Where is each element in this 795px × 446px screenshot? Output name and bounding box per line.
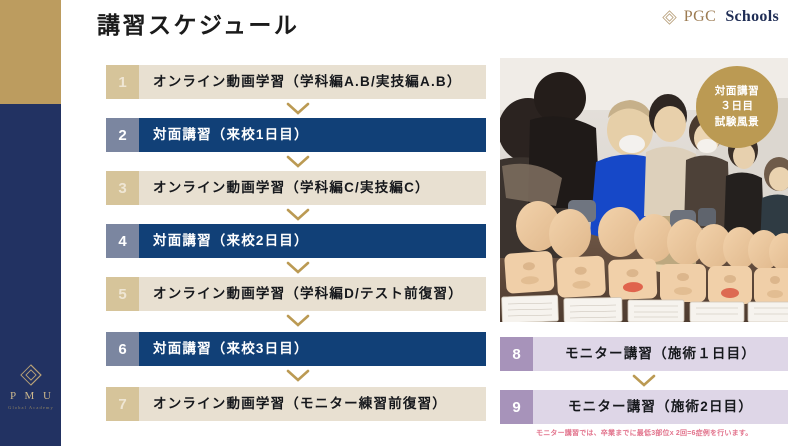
flow-step-3-number: 3 (106, 171, 139, 205)
flow-step-4-label: 対面講習（来校2日目） (139, 224, 486, 258)
flow-step-9-number: 9 (500, 390, 533, 424)
photo-caption-badge: 対面講習 ３日目 試験風景 (696, 66, 778, 148)
slide-canvas: P M U Global Academy 講習スケジュール PGC School… (0, 0, 795, 446)
chevron-down-icon (286, 369, 310, 382)
pmu-logo-name: P M U (7, 391, 54, 402)
flow-step-2[interactable]: 2 対面講習（来校1日目） (106, 118, 486, 152)
flow-step-3[interactable]: 3 オンライン動画学習（学科編C/実技編C） (106, 171, 486, 205)
diamond-outline-icon (661, 9, 678, 26)
photo-badge-line-2: ３日目 (720, 100, 753, 113)
chevron-down-icon (286, 208, 310, 221)
flow-step-5-number: 5 (106, 277, 139, 311)
sidebar-gold-band (0, 0, 61, 104)
flow-step-4[interactable]: 4 対面講習（来校2日目） (106, 224, 486, 258)
flow-step-1[interactable]: 1 オンライン動画学習（学科編A.B/実技編A.B） (106, 65, 486, 99)
flow-step-8-number: 8 (500, 337, 533, 371)
flow-step-8-label: モニター講習（施術１日目） (533, 337, 788, 371)
pmu-logo-subtitle: Global Academy (7, 405, 54, 410)
photo-badge-line-3: 試験風景 (715, 116, 759, 129)
flow-step-5-label: オンライン動画学習（学科編D/テスト前復習） (139, 277, 486, 311)
flow-step-4-number: 4 (106, 224, 139, 258)
brand-name-secondary: Schools (725, 8, 779, 26)
flow-step-7-number: 7 (106, 387, 139, 421)
flow-step-1-number: 1 (106, 65, 139, 99)
chevron-down-icon (286, 314, 310, 327)
pmu-diamond-icon (18, 362, 44, 388)
flow-step-8[interactable]: 8 モニター講習（施術１日目） (500, 337, 788, 371)
brand-name-primary: PGC (684, 8, 717, 26)
chevron-down-icon (286, 261, 310, 274)
chevron-down-icon (632, 374, 656, 387)
flow-step-2-number: 2 (106, 118, 139, 152)
flow-step-7[interactable]: 7 オンライン動画学習（モニター練習前復習） (106, 387, 486, 421)
chevron-down-icon (286, 155, 310, 168)
photo-badge-line-1: 対面講習 (715, 85, 759, 98)
flow-step-5[interactable]: 5 オンライン動画学習（学科編D/テスト前復習） (106, 277, 486, 311)
flow-step-9-label: モニター講習（施術2日目） (533, 390, 788, 424)
flow-step-3-label: オンライン動画学習（学科編C/実技編C） (139, 171, 486, 205)
flow-step-6-number: 6 (106, 332, 139, 366)
training-photo: 対面講習 ３日目 試験風景 (500, 58, 788, 322)
page-title: 講習スケジュール (97, 14, 299, 37)
flow-step-6[interactable]: 6 対面講習（来校3日目） (106, 332, 486, 366)
flow-step-7-label: オンライン動画学習（モニター練習前復習） (139, 387, 486, 421)
brand-logo: PGC Schools (661, 8, 779, 26)
flow-step-2-label: 対面講習（来校1日目） (139, 118, 486, 152)
pmu-logo: P M U Global Academy (0, 362, 61, 432)
flow-step-9[interactable]: 9 モニター講習（施術2日目） (500, 390, 788, 424)
flow-step-1-label: オンライン動画学習（学科編A.B/実技編A.B） (139, 65, 486, 99)
flow-step-6-label: 対面講習（来校3日目） (139, 332, 486, 366)
monitor-footnote: モニター講習では、卒業までに最低3部位x 2回=6症例を行います。 (536, 428, 753, 438)
chevron-down-icon (286, 102, 310, 115)
